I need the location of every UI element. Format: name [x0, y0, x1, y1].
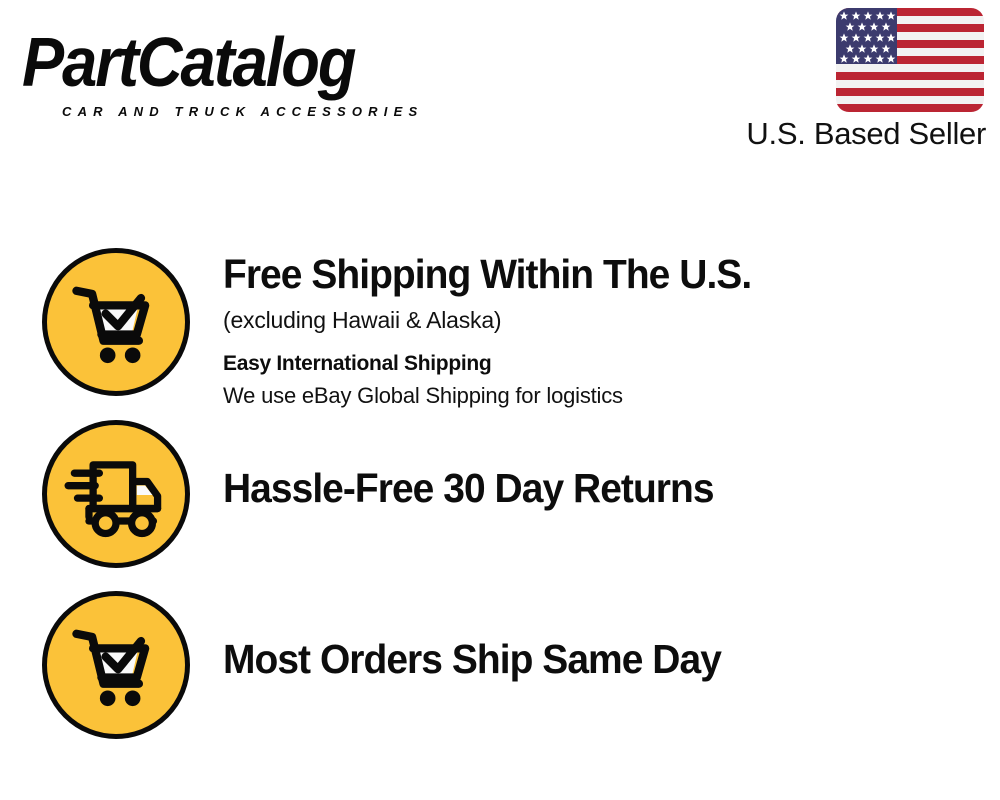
shopping-cart-check-icon	[42, 248, 190, 396]
feature-sub: (excluding Hawaii & Alaska)	[223, 303, 1000, 337]
brand-logo: PartCatalog CAR AND TRUCK ACCESSORIES	[22, 28, 492, 119]
brand-wordmark: PartCatalog	[22, 28, 501, 100]
shopping-cart-check-icon	[42, 591, 190, 739]
delivery-truck-icon	[42, 420, 190, 568]
feature-heading: Hassle-Free 30 Day Returns	[223, 464, 961, 513]
feature-row: Most Orders Ship Same Day	[0, 591, 1000, 739]
feature-heading: Free Shipping Within The U.S.	[223, 250, 961, 299]
feature-subheading: Easy International Shipping	[223, 349, 1000, 379]
promo-banner: PartCatalog CAR AND TRUCK ACCESSORIES	[0, 0, 1000, 800]
feature-icon-wrap	[42, 591, 192, 739]
feature-detail: We use eBay Global Shipping for logistic…	[223, 380, 1000, 412]
feature-text: Hassle-Free 30 Day Returns	[223, 420, 1000, 513]
feature-row: Hassle-Free 30 Day Returns	[0, 420, 1000, 568]
feature-icon-wrap	[42, 420, 192, 568]
brand-tagline: CAR AND TRUCK ACCESSORIES	[62, 104, 492, 119]
feature-text: Most Orders Ship Same Day	[223, 591, 1000, 684]
feature-text: Free Shipping Within The U.S. (excluding…	[223, 248, 1000, 412]
us-flag-icon	[836, 8, 984, 112]
feature-heading: Most Orders Ship Same Day	[223, 635, 961, 684]
feature-icon-wrap	[42, 248, 192, 396]
feature-row: Free Shipping Within The U.S. (excluding…	[0, 248, 1000, 412]
banner-header: PartCatalog CAR AND TRUCK ACCESSORIES	[0, 0, 1000, 170]
seller-label: U.S. Based Seller	[746, 116, 986, 152]
